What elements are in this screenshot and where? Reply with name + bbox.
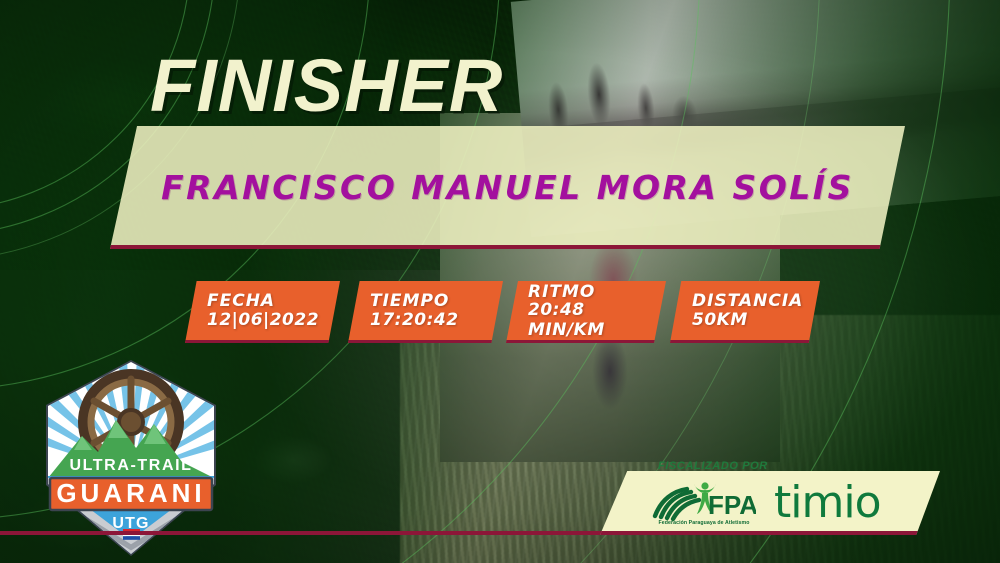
stat-label-distancia: DISTANCIA xyxy=(692,293,820,311)
logo-registered-mark: ® xyxy=(190,458,196,466)
fpa-acronym: FPA xyxy=(708,490,756,520)
stat-label-fecha: FECHA xyxy=(207,293,340,311)
fpa-logo-mark: FPA xyxy=(652,481,756,521)
stat-tiempo: TIEMPO 17:20:42 xyxy=(348,281,503,343)
stat-label-tiempo: TIEMPO xyxy=(370,293,503,311)
ultra-trail-guarani-logo: ULTRA-TRAIL ® GUARANI UTG xyxy=(36,358,226,558)
sponsor-logos: FPA Federación Paraguaya de Atletismo ti… xyxy=(600,471,940,535)
stat-value-tiempo: 17:20:42 xyxy=(370,311,503,331)
timio-logo: timio xyxy=(774,481,880,525)
stat-value-distancia: 50KM xyxy=(692,311,820,331)
stat-label-ritmo: RITMO xyxy=(528,284,666,302)
stat-value-fecha: 12|06|2022 xyxy=(207,311,340,331)
logo-brand-main: GUARANI xyxy=(56,478,205,508)
fpa-full-name: Federación Paraguaya de Atletismo xyxy=(652,520,756,526)
logo-guarani-banner: GUARANI xyxy=(50,478,212,510)
logo-brand-abbrev: UTG xyxy=(112,515,149,532)
fpa-logo: FPA Federación Paraguaya de Atletismo xyxy=(652,481,756,525)
stats-row: FECHA 12|06|2022 TIEMPO 17:20:42 RITMO 2… xyxy=(0,281,1000,347)
athlete-name: FRANCISCO MANUEL MORA SOLÍS xyxy=(110,126,905,249)
stat-fecha: FECHA 12|06|2022 xyxy=(185,281,340,343)
sponsor-baseline xyxy=(0,531,640,535)
stat-value-ritmo: 20:48 MIN/KM xyxy=(528,301,666,340)
logo-brand-top: ULTRA-TRAIL xyxy=(69,457,192,474)
stat-ritmo: RITMO 20:48 MIN/KM xyxy=(506,281,666,343)
stat-distancia: DISTANCIA 50KM xyxy=(670,281,820,343)
finisher-poster: FINISHER FRANCISCO MANUEL MORA SOLÍS FEC… xyxy=(0,0,1000,563)
page-title: FINISHER xyxy=(150,43,503,128)
